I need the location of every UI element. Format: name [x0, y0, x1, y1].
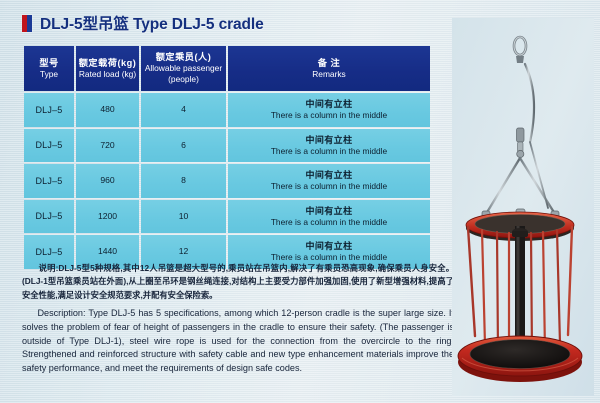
- column-header-rated-load-cn: 额定载荷(kg): [78, 57, 137, 69]
- cell-rated-load: 480: [76, 93, 139, 126]
- description-english-text: Description: Type DLJ-5 has 5 specificat…: [22, 307, 454, 376]
- cell-rated-load: 720: [76, 129, 139, 162]
- cell-passengers: 8: [141, 164, 226, 197]
- cell-model: DLJ–5: [24, 93, 74, 126]
- cell-remark-en: There is a column in the middle: [230, 146, 428, 157]
- catalog-page: DLJ-5型吊篮 Type DLJ-5 cradle 型号 Type 额定载荷(…: [0, 0, 600, 403]
- cell-remark-cn: 中间有立柱: [230, 169, 428, 181]
- description-chinese-text: 说明:DLJ-5型5种规格,其中12人吊篮是超大型号的,乘员站在吊篮内,解决了有…: [22, 262, 454, 302]
- column-header-type-en: Type: [26, 69, 72, 80]
- column-header-passengers-en: Allowable passenger (people): [143, 63, 224, 85]
- cell-model: DLJ–5: [24, 129, 74, 162]
- cradle-illustration: [452, 18, 594, 396]
- cell-remark-cn: 中间有立柱: [230, 134, 428, 146]
- column-header-rated-load: 额定载荷(kg) Rated load (kg): [76, 46, 139, 91]
- rope-thimble-icon: [517, 128, 525, 158]
- table-row: DLJ–5 1200 10 中间有立柱 There is a column in…: [24, 200, 430, 233]
- cell-remark-cn: 中间有立柱: [230, 98, 428, 110]
- column-header-passengers: 额定乘员(人) Allowable passenger (people): [141, 46, 226, 91]
- cell-remark-en: There is a column in the middle: [230, 217, 428, 228]
- cell-rated-load: 1200: [76, 200, 139, 233]
- cell-remark: 中间有立柱 There is a column in the middle: [228, 93, 430, 126]
- column-header-remarks-en: Remarks: [230, 69, 428, 80]
- description-english: Description: Type DLJ-5 has 5 specificat…: [22, 307, 454, 376]
- description-chinese: 说明:DLJ-5型5种规格,其中12人吊篮是超大型号的,乘员站在吊篮内,解决了有…: [22, 262, 454, 302]
- cell-remark: 中间有立柱 There is a column in the middle: [228, 129, 430, 162]
- column-header-remarks-cn: 备 注: [230, 57, 428, 69]
- cradle-floor-platform: [458, 336, 582, 382]
- table-row: DLJ–5 720 6 中间有立柱 There is a column in t…: [24, 129, 430, 162]
- cell-model: DLJ–5: [24, 200, 74, 233]
- title-marker-icon: [22, 15, 32, 32]
- column-header-passengers-cn: 额定乘员(人): [143, 51, 224, 63]
- column-header-rated-load-en: Rated load (kg): [78, 69, 137, 80]
- column-header-remarks: 备 注 Remarks: [228, 46, 430, 91]
- cell-remark-cn: 中间有立柱: [230, 240, 428, 252]
- cell-remark-cn: 中间有立柱: [230, 205, 428, 217]
- table-row: DLJ–5 480 4 中间有立柱 There is a column in t…: [24, 93, 430, 126]
- column-header-type: 型号 Type: [24, 46, 74, 91]
- cell-remark-en: There is a column in the middle: [230, 110, 428, 121]
- cell-remark-en: There is a column in the middle: [230, 181, 428, 192]
- table-header-row: 型号 Type 额定载荷(kg) Rated load (kg) 额定乘员(人)…: [24, 46, 430, 91]
- cell-rated-load: 960: [76, 164, 139, 197]
- specification-table: 型号 Type 额定载荷(kg) Rated load (kg) 额定乘员(人)…: [22, 44, 432, 271]
- cell-model: DLJ–5: [24, 164, 74, 197]
- column-header-type-cn: 型号: [26, 57, 72, 69]
- cell-passengers: 6: [141, 129, 226, 162]
- cell-passengers: 4: [141, 93, 226, 126]
- cell-passengers: 10: [141, 200, 226, 233]
- table-row: DLJ–5 960 8 中间有立柱 There is a column in t…: [24, 164, 430, 197]
- cell-remark: 中间有立柱 There is a column in the middle: [228, 200, 430, 233]
- page-title-text: DLJ-5型吊篮 Type DLJ-5 cradle: [40, 12, 264, 34]
- cell-remark: 中间有立柱 There is a column in the middle: [228, 164, 430, 197]
- product-photo-cradle: [452, 18, 594, 396]
- page-title: DLJ-5型吊篮 Type DLJ-5 cradle: [22, 12, 264, 34]
